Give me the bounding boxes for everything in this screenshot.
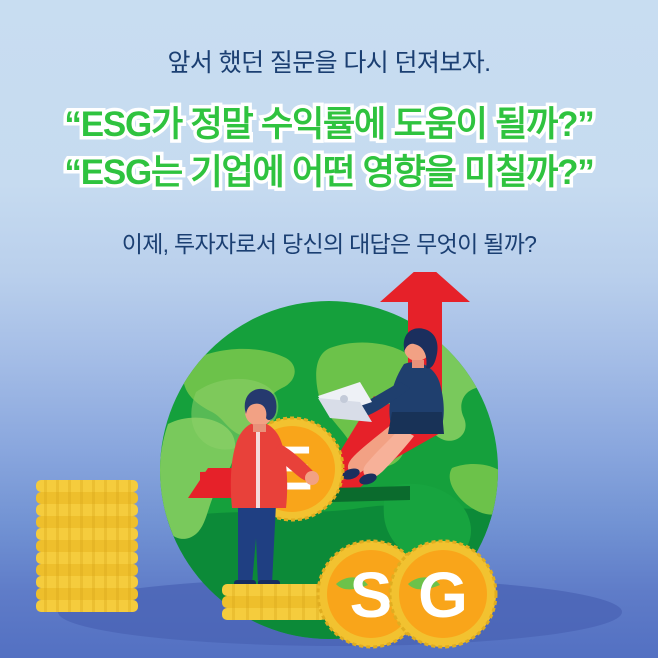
coin-g: G xyxy=(390,541,496,647)
esg-info-card: 앞서 했던 질문을 다시 던져보자. “ESG가 정말 수익률에 도움이 될까?… xyxy=(0,0,658,658)
headline-line-1: “ESG가 정말 수익률에 도움이 될까?” xyxy=(0,101,658,149)
coin-g-letter: G xyxy=(418,559,468,631)
text-block: 앞서 했던 질문을 다시 던져보자. “ESG가 정말 수익률에 도움이 될까?… xyxy=(0,0,658,260)
man-jacket-seam xyxy=(256,426,260,508)
laptop-logo xyxy=(340,395,348,403)
coin-stack-short xyxy=(222,584,326,620)
man-neck xyxy=(253,424,266,432)
woman-skirt xyxy=(388,412,444,434)
woman-neck xyxy=(412,360,424,368)
headline: “ESG가 정말 수익률에 도움이 될까?” “ESG는 기업에 어떤 영향을 … xyxy=(0,79,658,196)
coin-stack-tall xyxy=(36,480,138,612)
headline-line-2: “ESG는 기업에 어떤 영향을 미칠까?” xyxy=(0,149,658,197)
coin-s-letter: S xyxy=(350,559,393,631)
esg-illustration: E xyxy=(0,272,658,658)
subline-text: 이제, 투자자로서 당신의 대답은 무엇이 될까? xyxy=(0,196,658,260)
coin-stack-tall-coins xyxy=(36,480,138,612)
lead-text: 앞서 했던 질문을 다시 던져보자. xyxy=(0,0,658,79)
man-hand xyxy=(305,471,319,485)
